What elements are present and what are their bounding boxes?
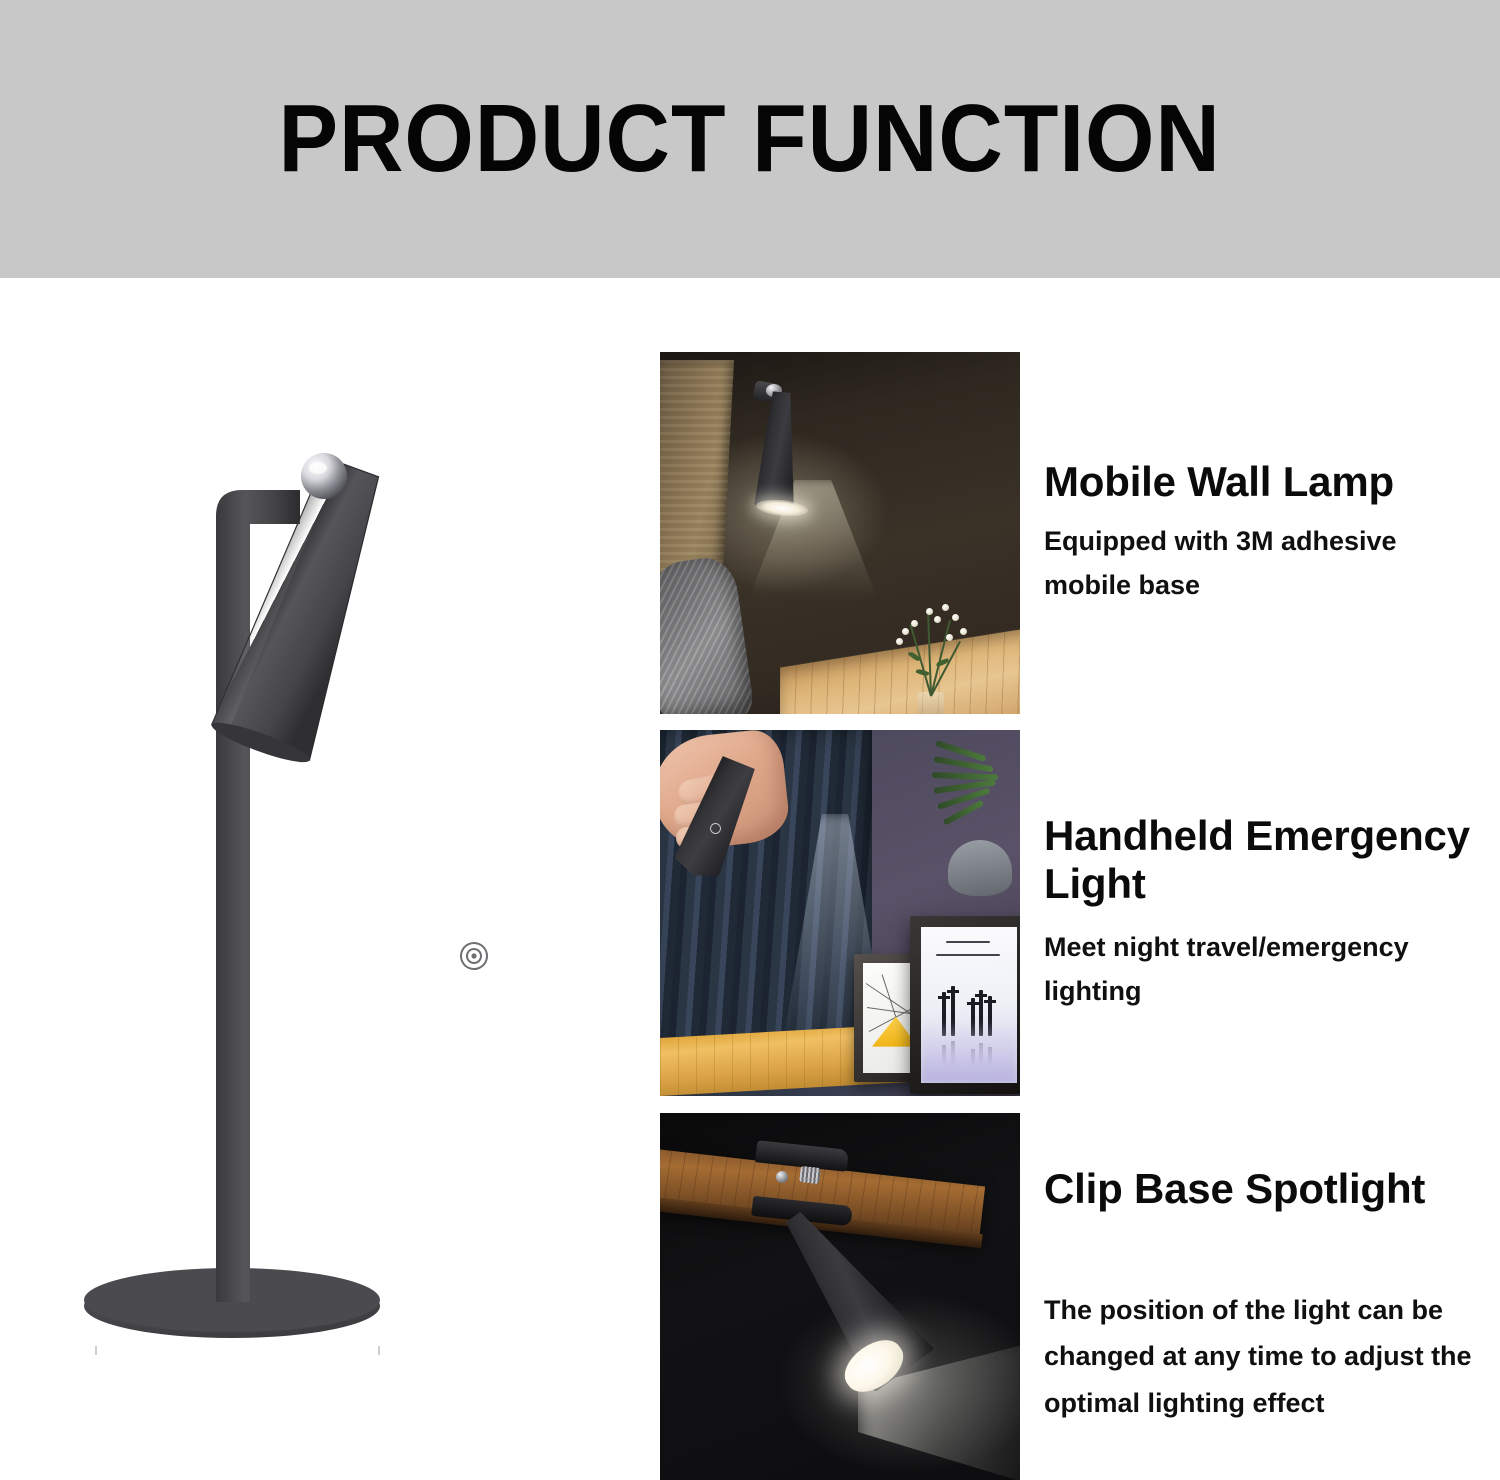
water-reflection	[921, 1021, 1017, 1083]
product-infographic: PRODUCT FUNCTION	[0, 0, 1500, 1480]
fern-plant	[926, 734, 1018, 854]
power-button-icon[interactable]	[457, 939, 490, 972]
feature-description: Meet night travel/emergency lighting	[1044, 926, 1474, 1013]
ball-joint	[301, 453, 347, 499]
feature-list: Mobile Wall Lamp Equipped with 3M adhesi…	[660, 278, 1500, 1480]
feature-text: Handheld Emergency Light Meet night trav…	[1020, 730, 1500, 1096]
poster-artwork	[921, 927, 1017, 1083]
plant-pot	[948, 840, 1012, 896]
feature-description: The position of the light can be changed…	[1044, 1287, 1474, 1426]
feature-row: Clip Base Spotlight The position of the …	[660, 1113, 1500, 1480]
flower-vase	[880, 594, 988, 714]
photo-mobile-wall-lamp	[660, 352, 1020, 714]
feature-text: Mobile Wall Lamp Equipped with 3M adhesi…	[1020, 352, 1500, 714]
clip-spring	[799, 1166, 821, 1184]
feature-title: Handheld Emergency Light	[1044, 812, 1490, 908]
product-illustration-panel	[0, 278, 660, 1480]
page-title: PRODUCT FUNCTION	[279, 91, 1221, 187]
feature-description: Equipped with 3M adhesive mobile base	[1044, 520, 1474, 607]
clip-screw	[776, 1171, 788, 1183]
photo-handheld-emergency-light	[660, 730, 1020, 1096]
picture-frame-front	[910, 916, 1020, 1094]
feature-row: Handheld Emergency Light Meet night trav…	[660, 730, 1500, 1096]
feature-row: Mobile Wall Lamp Equipped with 3M adhesi…	[660, 352, 1500, 714]
feature-title: Clip Base Spotlight	[1044, 1165, 1490, 1213]
feature-text: Clip Base Spotlight The position of the …	[1020, 1113, 1500, 1480]
desk-lamp-illustration	[0, 278, 660, 1480]
feature-title: Mobile Wall Lamp	[1044, 458, 1490, 506]
photo-clip-base-spotlight	[660, 1113, 1020, 1480]
header-banner: PRODUCT FUNCTION	[0, 0, 1500, 278]
